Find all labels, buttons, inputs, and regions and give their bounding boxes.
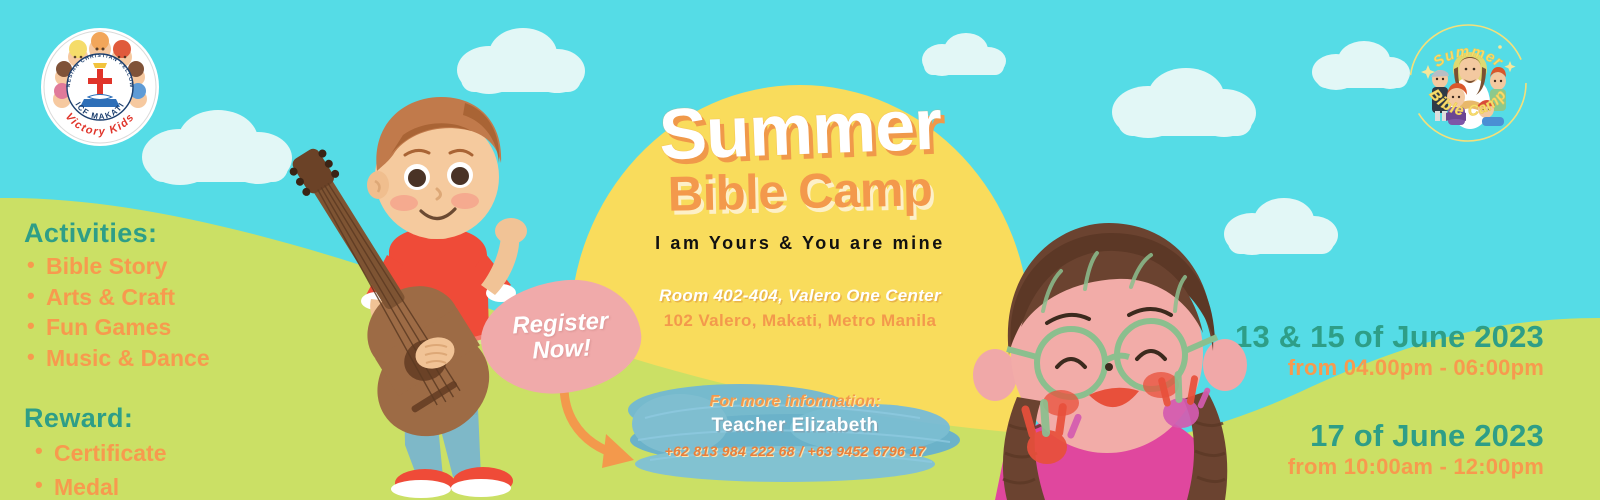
reward-heading: Reward: [24,403,324,434]
list-item: Medal [24,470,324,500]
contact-phone-numbers: +62 813 984 222 68 / +63 9452 6796 17 [640,443,950,459]
contact-info-block: For more information: Teacher Elizabeth … [640,393,950,459]
list-item: Fun Games [24,312,324,343]
cloud-icon [922,33,1006,76]
summer-bible-camp-badge: Summer Bible Camp [1402,17,1534,149]
contact-teacher-name: Teacher Elizabeth [640,415,950,437]
venue-line-2: 102 Valero, Makati, Metro Manila [590,311,1010,331]
list-item: Bible Story [24,251,324,282]
summer-bible-camp-banner: INDONESIAN CHRISTIAN FELLOWSHIP ICF MAKA… [0,0,1600,500]
contact-heading: For more information: [640,393,950,411]
center-title-block: Summer Bible Camp I am Yours & You are m… [590,96,1010,331]
list-item: Certificate [24,436,324,470]
cloud-icon [1312,41,1410,90]
register-line-2: Now! [532,335,592,364]
title-summer: Summer [589,88,1011,173]
register-now-label: Register Now! [478,277,644,397]
activities-heading: Activities: [24,218,324,249]
register-line-1: Register [512,309,609,340]
list-item: Arts & Craft [24,282,324,313]
left-info-block: Activities: Bible Story Arts & Craft Fun… [24,218,324,500]
venue-line-1: Room 402-404, Valero One Center [590,286,1010,306]
cloud-icon [142,110,292,185]
rewards-list: Certificate Medal Goodie Bag [24,436,324,500]
tagline: I am Yours & You are mine [590,233,1010,254]
register-now-badge[interactable]: Register Now! [481,281,641,393]
activities-list: Bible Story Arts & Craft Fun Games Music… [24,251,324,373]
cloud-icon [1112,68,1256,138]
title-bible-camp: Bible Camp [590,163,1011,223]
icf-makati-victory-kids-logo: INDONESIAN CHRISTIAN FELLOWSHIP ICF MAKA… [40,27,160,147]
list-item: Music & Dance [24,343,324,374]
